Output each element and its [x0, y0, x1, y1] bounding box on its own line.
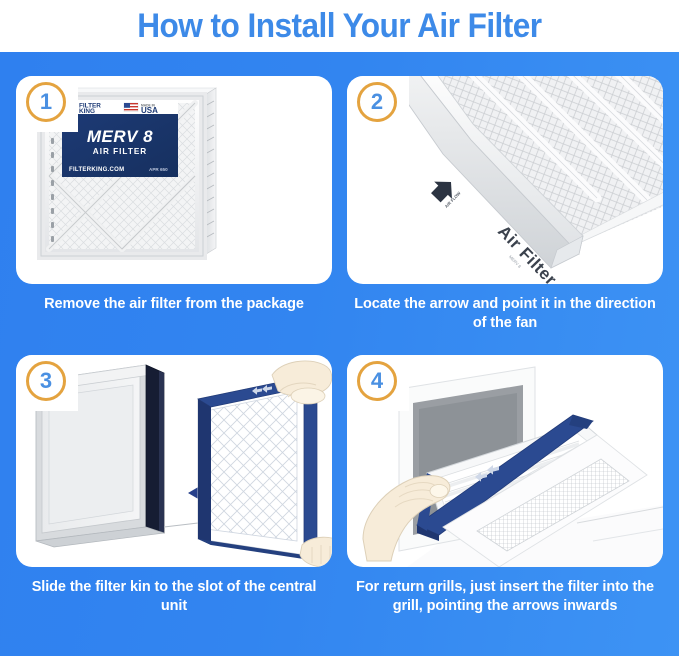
svg-text:MERV 8: MERV 8: [87, 127, 153, 146]
step-2: AIR FLOW Air Filter MERV 8 2: [347, 76, 663, 332]
svg-text:FILTERKING.COM: FILTERKING.COM: [69, 167, 124, 173]
step-2-card: AIR FLOW Air Filter MERV 8 2: [347, 76, 663, 284]
step-3-badge: 3: [26, 361, 66, 401]
step-2-caption: Locate the arrow and point it in the dir…: [347, 295, 663, 332]
svg-text:USA: USA: [141, 106, 158, 115]
steps-background: FILTER KING MADE IN USA: [0, 52, 679, 656]
step-1-caption: Remove the air filter from the package: [16, 295, 332, 314]
steps-grid: FILTER KING MADE IN USA: [0, 52, 679, 656]
infographic-root: How to Install Your Air Filter: [0, 0, 679, 656]
svg-text:KING: KING: [79, 108, 95, 115]
step-3-card: 3: [16, 355, 332, 567]
step-3-caption: Slide the filter kin to the slot of the …: [16, 578, 332, 615]
step-1-badge: 1: [26, 82, 66, 122]
step-1: FILTER KING MADE IN USA: [16, 76, 332, 314]
step-3: 3 Slide the filter kin to the slot of th…: [16, 355, 332, 615]
step-4-card: 4: [347, 355, 663, 567]
svg-text:APR 650: APR 650: [149, 167, 168, 172]
step-4: 4 For return grills, just insert the fil…: [347, 355, 663, 615]
step-2-badge: 2: [357, 82, 397, 122]
page-title: How to Install Your Air Filter: [137, 7, 541, 46]
svg-text:AIR FILTER: AIR FILTER: [93, 147, 147, 156]
header-band: How to Install Your Air Filter: [0, 0, 679, 52]
step-1-card: FILTER KING MADE IN USA: [16, 76, 332, 284]
step-4-caption: For return grills, just insert the filte…: [347, 578, 663, 615]
step-4-badge: 4: [357, 361, 397, 401]
